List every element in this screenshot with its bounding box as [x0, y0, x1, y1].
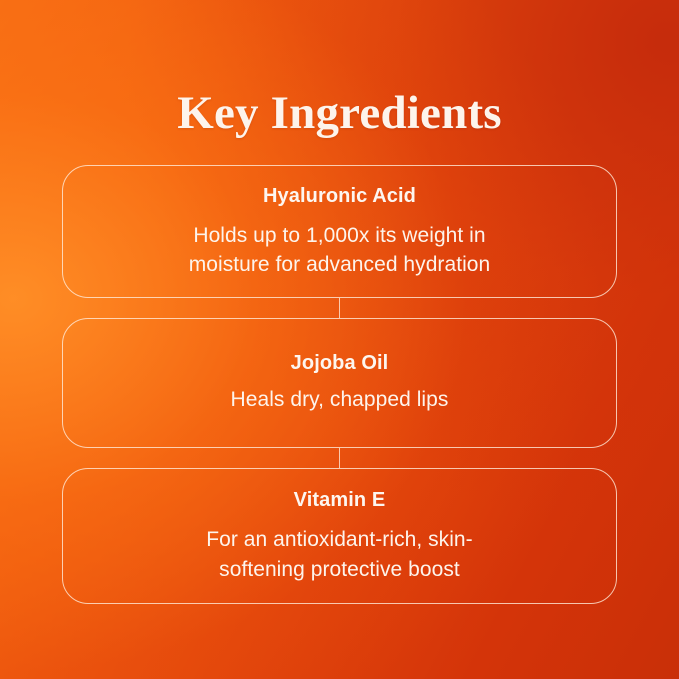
- ingredient-name: Vitamin E: [294, 488, 386, 512]
- connector-line-icon: [339, 448, 340, 468]
- ingredient-card-stack: Hyaluronic Acid Holds up to 1,000x its w…: [62, 165, 617, 604]
- key-ingredients-poster: Key Ingredients Hyaluronic Acid Holds up…: [0, 0, 679, 679]
- ingredient-name: Jojoba Oil: [291, 351, 389, 375]
- ingredient-description: Holds up to 1,000x its weight in moistur…: [189, 221, 491, 280]
- ingredient-name: Hyaluronic Acid: [263, 184, 416, 208]
- ingredient-card-hyaluronic-acid: Hyaluronic Acid Holds up to 1,000x its w…: [62, 165, 617, 298]
- page-title-container: Key Ingredients: [0, 58, 679, 170]
- ingredient-card-vitamin-e: Vitamin E For an antioxidant-rich, skin-…: [62, 468, 617, 604]
- ingredient-description: For an antioxidant-rich, skin- softening…: [206, 525, 472, 584]
- page-title: Key Ingredients: [177, 89, 502, 138]
- connector-line-icon: [339, 298, 340, 318]
- ingredient-description: Heals dry, chapped lips: [231, 385, 449, 414]
- ingredient-card-jojoba-oil: Jojoba Oil Heals dry, chapped lips: [62, 318, 617, 448]
